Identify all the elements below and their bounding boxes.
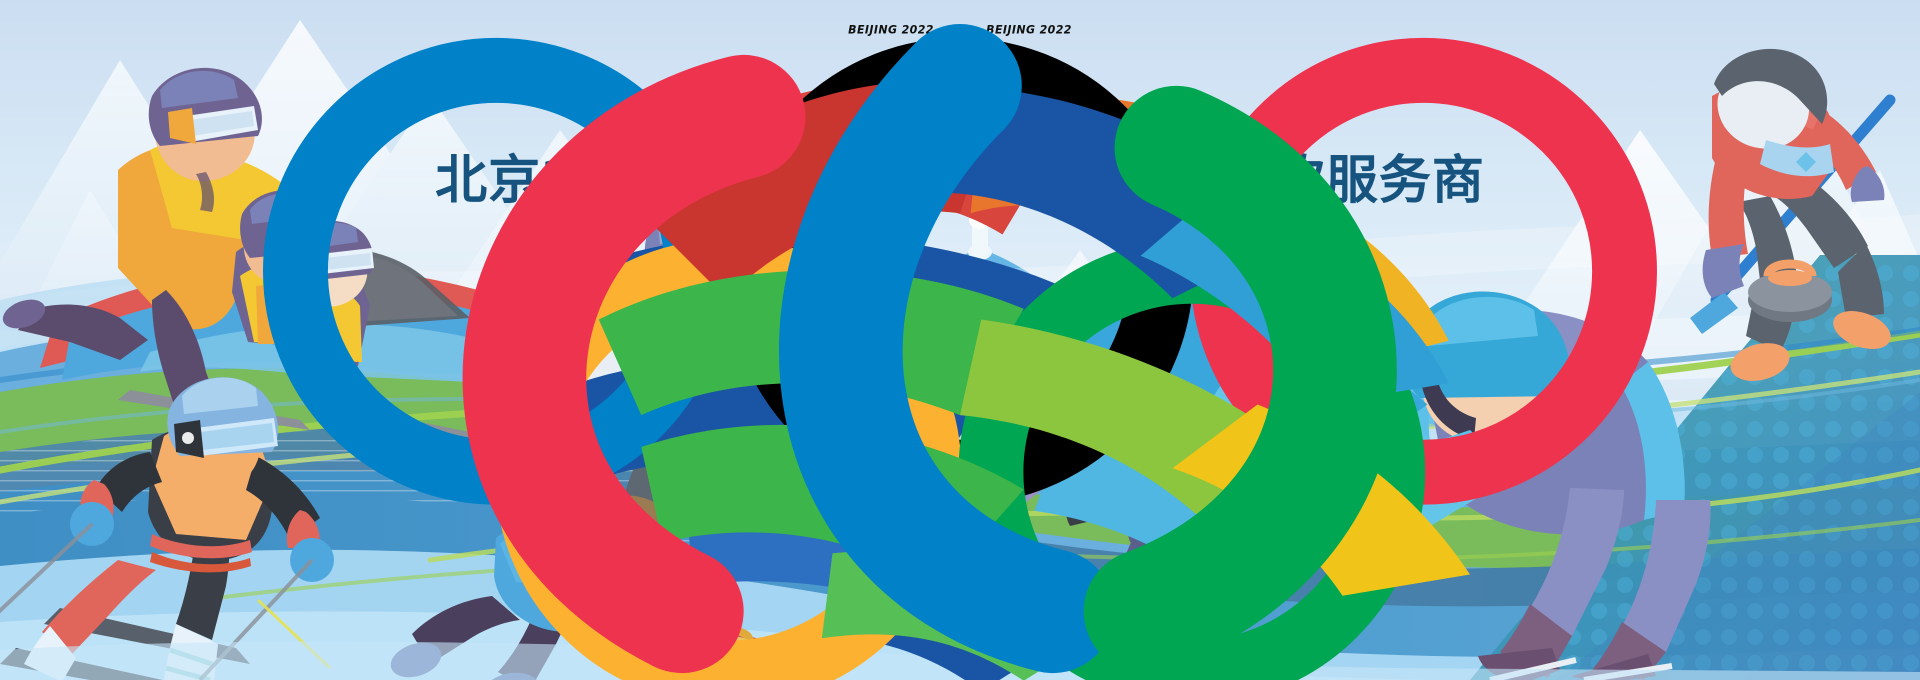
paralympic-agitos <box>0 24 1920 680</box>
emblem-row: BEIJING 2022 <box>0 22 1920 36</box>
beijing-2022-catering-sponsor-banner: BEIJING 2022 <box>0 0 1920 680</box>
paralympic-emblem-block: BEIJING 2022 <box>979 22 1079 36</box>
